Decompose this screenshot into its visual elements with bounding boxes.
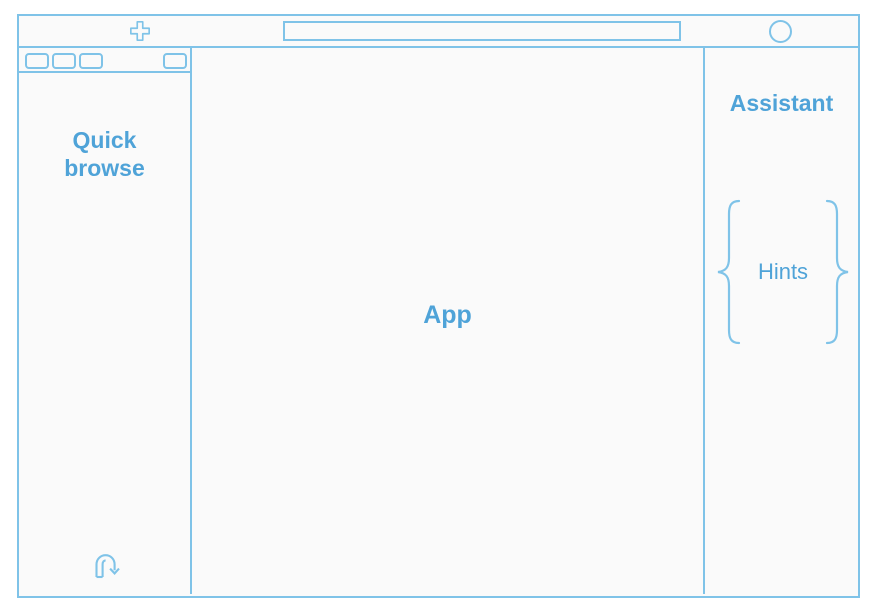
body-region: Quick browse App Assistant [17, 48, 860, 598]
sidebar-tool-button-2[interactable] [52, 53, 76, 69]
sidebar-panel: Quick browse [19, 48, 192, 594]
sidebar-tool-button-4[interactable] [163, 53, 187, 69]
sidebar-toolbar [19, 48, 190, 73]
u-turn-arrow-icon [91, 552, 121, 580]
app-content-panel: App [192, 48, 705, 594]
assistant-title: Assistant [705, 90, 858, 117]
plus-icon [129, 20, 151, 42]
app-label: App [423, 301, 472, 330]
add-button[interactable] [19, 16, 260, 46]
account-circle-icon [769, 20, 792, 43]
search-container [260, 16, 703, 46]
search-input[interactable] [283, 21, 681, 41]
sidebar-title: Quick browse [19, 126, 190, 182]
hints-block: Hints [713, 198, 853, 346]
sidebar-tool-button-1[interactable] [25, 53, 49, 69]
header-bar [17, 14, 860, 48]
sidebar-title-line-1: Quick [19, 126, 190, 154]
assistant-panel: Assistant Hints [705, 48, 858, 594]
hints-label: Hints [713, 198, 853, 346]
sidebar-footer-button[interactable] [91, 552, 121, 580]
account-button[interactable] [703, 16, 858, 46]
sidebar-title-line-2: browse [19, 154, 190, 182]
wireframe-canvas: Quick browse App Assistant [17, 14, 860, 598]
sidebar-tool-button-3[interactable] [79, 53, 103, 69]
